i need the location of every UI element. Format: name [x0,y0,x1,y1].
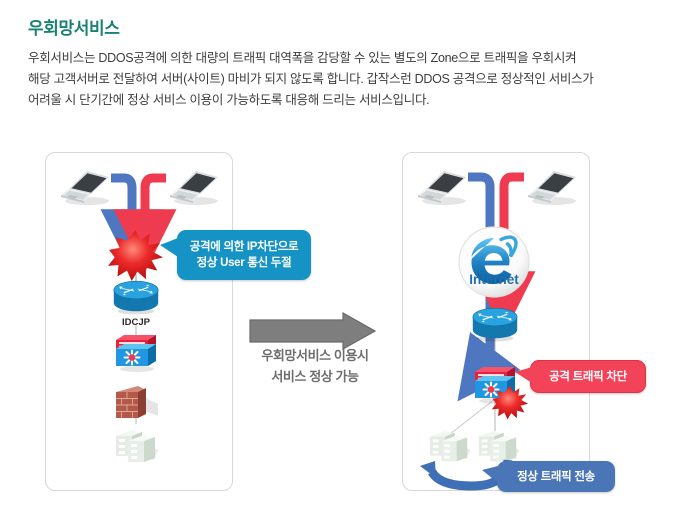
right-explosion [491,385,529,425]
page-root: 우회망서비스 우회서비스는 DDOS공격에 의한 대량의 트래픽 대역폭을 감당… [0,0,680,525]
left-switch [114,330,158,377]
intro-paragraph: 우회서비스는 DDOS공격에 의한 대량의 트래픽 대역폭을 감당할 수 있는 … [28,48,638,111]
internet-cloud [457,225,531,304]
left-router [110,278,162,320]
callout-line-1: 공격에 의한 IP차단으로 [190,239,299,255]
right-laptop-user [414,167,470,212]
explosion-icon [491,385,529,420]
paragraph-line-3: 어려울 시 단기간에 정상 서비스 이용이 가능하도록 대응해 드리는 서비스입… [28,90,638,111]
callout-tail-icon [482,466,498,483]
firewall-brick-icon [112,382,162,428]
callout-line-2: 정상 User 통신 두절 [197,255,292,271]
center-caption: 우회망서비스 이용시 서비스 정상 가능 [235,345,395,387]
callout-attack-blocked: 공격 트래픽 차단 [530,360,646,393]
router-icon [469,305,521,342]
callout-ip-blocked: 공격에 의한 IP차단으로 정상 User 통신 두절 [177,230,311,280]
left-laptop-user [57,167,113,212]
callout-line-1: 정상 트래픽 전송 [517,469,595,485]
paragraph-line-1: 우회서비스는 DDOS공격에 의한 대량의 트래픽 대역폭을 감당할 수 있는 … [28,48,638,69]
callout-line-1: 공격 트래픽 차단 [549,369,627,385]
laptop-icon [414,167,470,207]
multilayer-switch-icon [114,330,158,372]
right-laptop-attacker [524,167,580,212]
server-stack-icon [110,424,162,470]
right-router [469,305,521,347]
router-label: IDCJP [106,317,166,328]
laptop-icon [166,167,222,207]
paragraph-line-2: 해당 고객서버로 전달하여 서버(사이트) 마비가 되지 않도록 합니다. 갑작… [28,69,638,90]
router-icon [110,278,162,315]
callout-tail-icon [160,238,178,257]
page-title: 우회망서비스 [28,14,119,39]
laptop-icon [57,167,113,207]
callout-tail-icon [515,367,532,383]
explosion-icon [107,229,164,282]
internet-explorer-icon [457,225,531,299]
center-caption-line-2: 서비스 정상 가능 [235,366,395,387]
callout-normal-traffic: 정상 트래픽 전송 [497,461,615,492]
center-caption-line-1: 우회망서비스 이용시 [235,345,395,366]
left-server [110,424,162,475]
laptop-icon [524,167,580,207]
left-laptop-attacker [166,167,222,212]
